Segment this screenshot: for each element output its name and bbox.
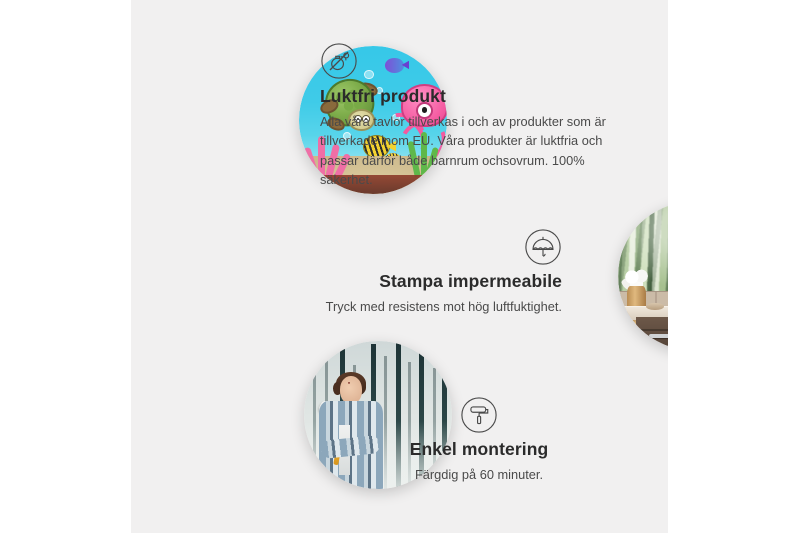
feature-body: Tryck med resistens mot hög luftfuktighe… <box>217 297 562 316</box>
feature-heading: Luktfri produkt <box>320 86 620 108</box>
feature-panel: Luktfri produkt Alla våra tavlor tillver… <box>131 0 668 533</box>
paint-roller-icon <box>460 396 498 434</box>
vanity-cabinet <box>636 317 668 350</box>
feature-luktfri-produkt: Luktfri produkt Alla våra tavlor tillver… <box>320 42 620 190</box>
feature-heading: Enkel montering <box>334 439 624 461</box>
feature-body: Alla våra tavlor tillverkas i och av pro… <box>320 112 620 190</box>
promo-banner: Luktfri produkt Alla våra tavlor tillver… <box>0 0 800 533</box>
no-fragrance-icon <box>320 42 358 80</box>
feature-stampa-impermeabile: Stampa impermeabile Tryck med resistens … <box>217 228 562 316</box>
feature-heading: Stampa impermeabile <box>217 271 562 293</box>
feature-body: Färgdig på 60 minuter. <box>334 465 624 484</box>
feature-enkel-montering: Enkel montering Färgdig på 60 minuter. <box>334 396 624 484</box>
bathroom-interior-photo <box>618 202 668 350</box>
umbrella-icon <box>524 228 562 266</box>
